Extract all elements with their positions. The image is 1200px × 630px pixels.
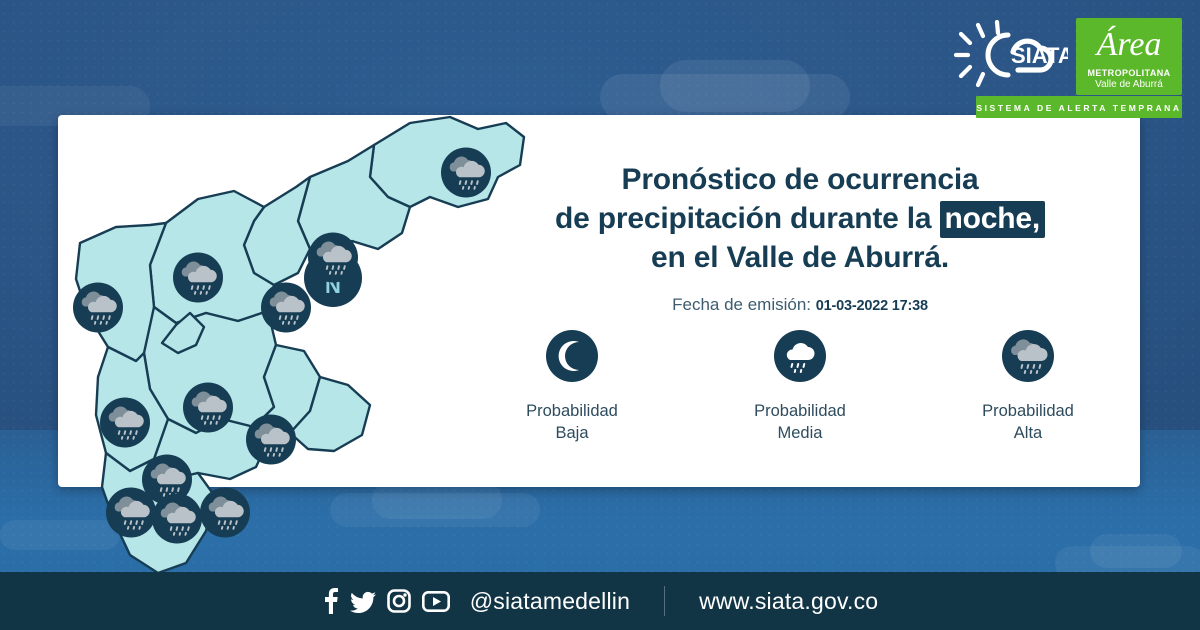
infographic-root: N — [0, 0, 1200, 630]
background-cloud-7 — [1090, 534, 1182, 568]
headline-line-2-text: de precipitación durante la — [555, 202, 931, 235]
tagline-text: SISTEMA DE ALERTA TEMPRANA — [976, 103, 1181, 113]
footer-bar: @siatamedellin www.siata.gov.co — [0, 572, 1200, 630]
headline-line-2: de precipitación durante la noche, — [470, 199, 1130, 238]
legend-item-baja: Probabilidad Baja — [497, 330, 647, 445]
area-script-text: Área — [1095, 26, 1162, 63]
legend-label-media: Probabilidad Media — [725, 401, 875, 445]
youtube-icon[interactable] — [422, 591, 450, 612]
issue-date-label: Fecha de emisión: — [672, 295, 811, 314]
legend-label-baja: Probabilidad Baja — [497, 401, 647, 445]
legend-label-alta: Probabilidad Alta — [953, 401, 1103, 445]
legend-baja-line2: Baja — [497, 423, 647, 445]
probability-legend: Probabilidad Baja — [470, 330, 1130, 445]
footer-divider — [664, 586, 665, 616]
siata-logo: SIATA — [948, 18, 1068, 97]
social-handle[interactable]: @siatamedellin — [470, 588, 630, 615]
area-sub1: METROPOLITANA — [1080, 68, 1178, 78]
cloud-moon-rain-icon — [725, 330, 875, 387]
legend-alta-line2: Alta — [953, 423, 1103, 445]
cloud-rain-icon — [100, 398, 150, 453]
tagline-bar: SISTEMA DE ALERTA TEMPRANA — [976, 96, 1182, 118]
siata-wordmark: SIATA — [1011, 43, 1068, 68]
legend-media-line1: Probabilidad — [725, 401, 875, 423]
issue-date-value: 01-03-2022 17:38 — [816, 298, 928, 314]
headline-highlight-noche: noche, — [940, 201, 1045, 238]
cloud-rain-icon — [106, 488, 156, 543]
cloud-rain-icon — [246, 415, 296, 470]
moon-icon — [497, 330, 647, 387]
cloud-rain-icon — [152, 494, 202, 549]
area-metropolitana-logo: Área METROPOLITANA Valle de Aburrá — [1076, 18, 1182, 95]
headline-line-3: en el Valle de Aburrá. — [470, 238, 1130, 277]
area-sub2: Valle de Aburrá — [1080, 79, 1178, 90]
cloud-rain-icon — [173, 253, 223, 308]
page-title: Pronóstico de ocurrencia de precipitació… — [470, 160, 1130, 277]
cloud-rain-icon — [183, 383, 233, 438]
website-link[interactable]: www.siata.gov.co — [699, 588, 878, 615]
area-script-icon: Área — [1085, 23, 1173, 65]
twitter-icon[interactable] — [350, 588, 376, 614]
logo-group: SIATA Área METROPOLITANA Valle de Aburrá — [948, 18, 1182, 97]
forecast-panel: Pronóstico de ocurrencia de precipitació… — [470, 160, 1130, 315]
instagram-icon[interactable] — [387, 589, 411, 613]
map-markers — [58, 115, 528, 575]
cloud-rain-icon — [261, 283, 311, 338]
cloud-rain-icon — [73, 283, 123, 338]
facebook-icon[interactable] — [322, 588, 339, 614]
legend-alta-line1: Probabilidad — [953, 401, 1103, 423]
legend-item-alta: Probabilidad Alta — [953, 330, 1103, 445]
cloud-rain-icon — [953, 330, 1103, 387]
cloud-rain-icon — [308, 233, 358, 288]
background-cloud-2 — [660, 60, 810, 112]
headline-line-1: Pronóstico de ocurrencia — [470, 160, 1130, 199]
legend-media-line2: Media — [725, 423, 875, 445]
issue-date: Fecha de emisión: 01-03-2022 17:38 — [470, 295, 1130, 315]
legend-baja-line1: Probabilidad — [497, 401, 647, 423]
legend-item-media: Probabilidad Media — [725, 330, 875, 445]
social-icons — [322, 588, 450, 614]
cloud-rain-icon — [200, 488, 250, 543]
